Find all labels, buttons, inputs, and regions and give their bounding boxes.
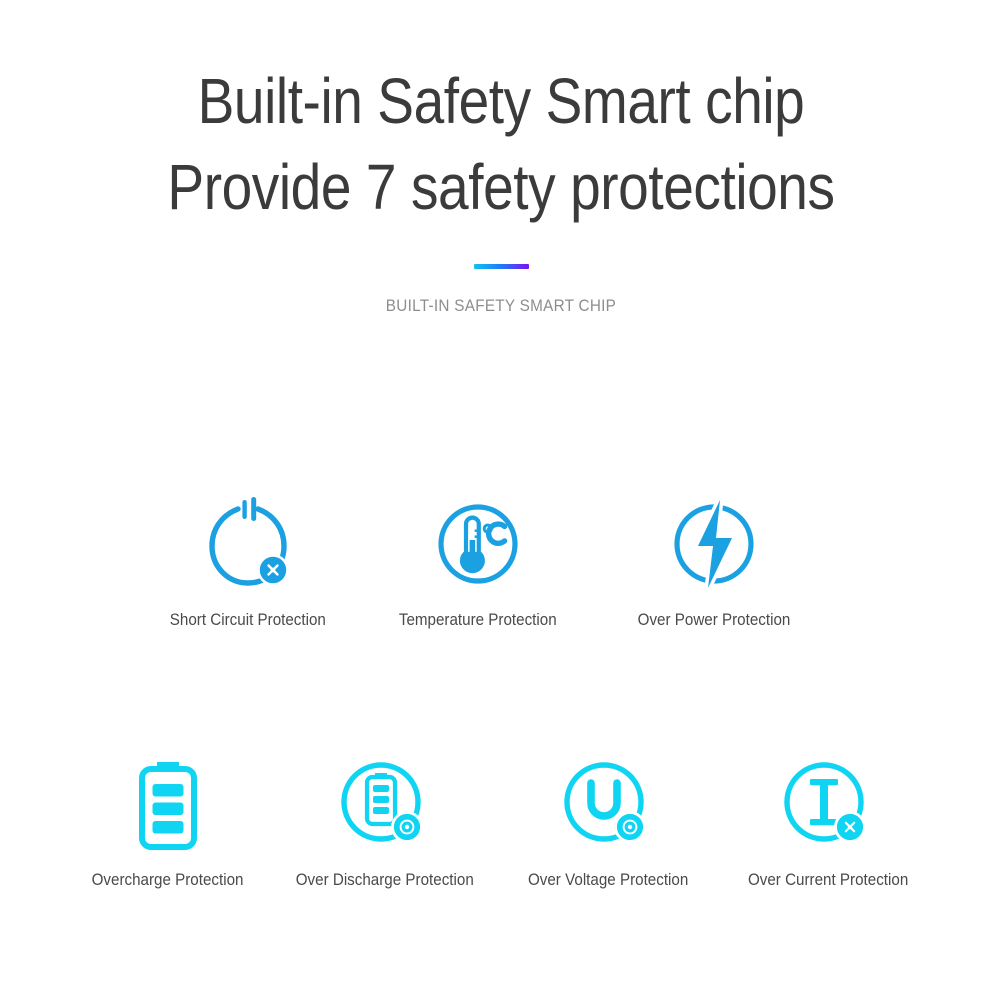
subtitle-container: BUILT-IN SAFETY SMART CHIP [0,296,1002,316]
gradient-divider [474,264,529,269]
page-subtitle: BUILT-IN SAFETY SMART CHIP [386,296,616,316]
voltage-u-icon [498,752,718,856]
short-circuit-icon [138,492,358,596]
current-i-icon [718,752,938,856]
feature-label: Temperature Protection [399,610,557,630]
feature-label: Over Voltage Protection [528,870,688,890]
page-title: Built-in Safety Smart chip Provide 7 saf… [70,58,932,230]
headline-line-2: Provide 7 safety protections [70,144,932,230]
lightning-bolt-icon [604,492,824,596]
headline-line-1: Built-in Safety Smart chip [70,58,932,144]
feature-over-discharge: Over Discharge Protection [275,752,495,890]
feature-over-voltage: Over Voltage Protection [498,752,718,890]
feature-label: Over Power Protection [638,610,791,630]
battery-full-icon [58,752,278,856]
feature-over-current: Over Current Protection [718,752,938,890]
battery-in-circle-icon [275,752,495,856]
feature-temperature: Temperature Protection [368,492,588,630]
feature-over-power: Over Power Protection [604,492,824,630]
thermometer-celsius-icon [368,492,588,596]
feature-short-circuit: Short Circuit Protection [138,492,358,630]
header-block: Built-in Safety Smart chip Provide 7 saf… [0,58,1002,230]
feature-overcharge: Overcharge Protection [58,752,278,890]
feature-label: Overcharge Protection [92,870,244,890]
divider-container [0,264,1002,269]
feature-label: Over Current Protection [748,870,908,890]
feature-label: Over Discharge Protection [296,870,474,890]
feature-label: Short Circuit Protection [170,610,326,630]
infographic-page: Built-in Safety Smart chip Provide 7 saf… [0,0,1002,1002]
